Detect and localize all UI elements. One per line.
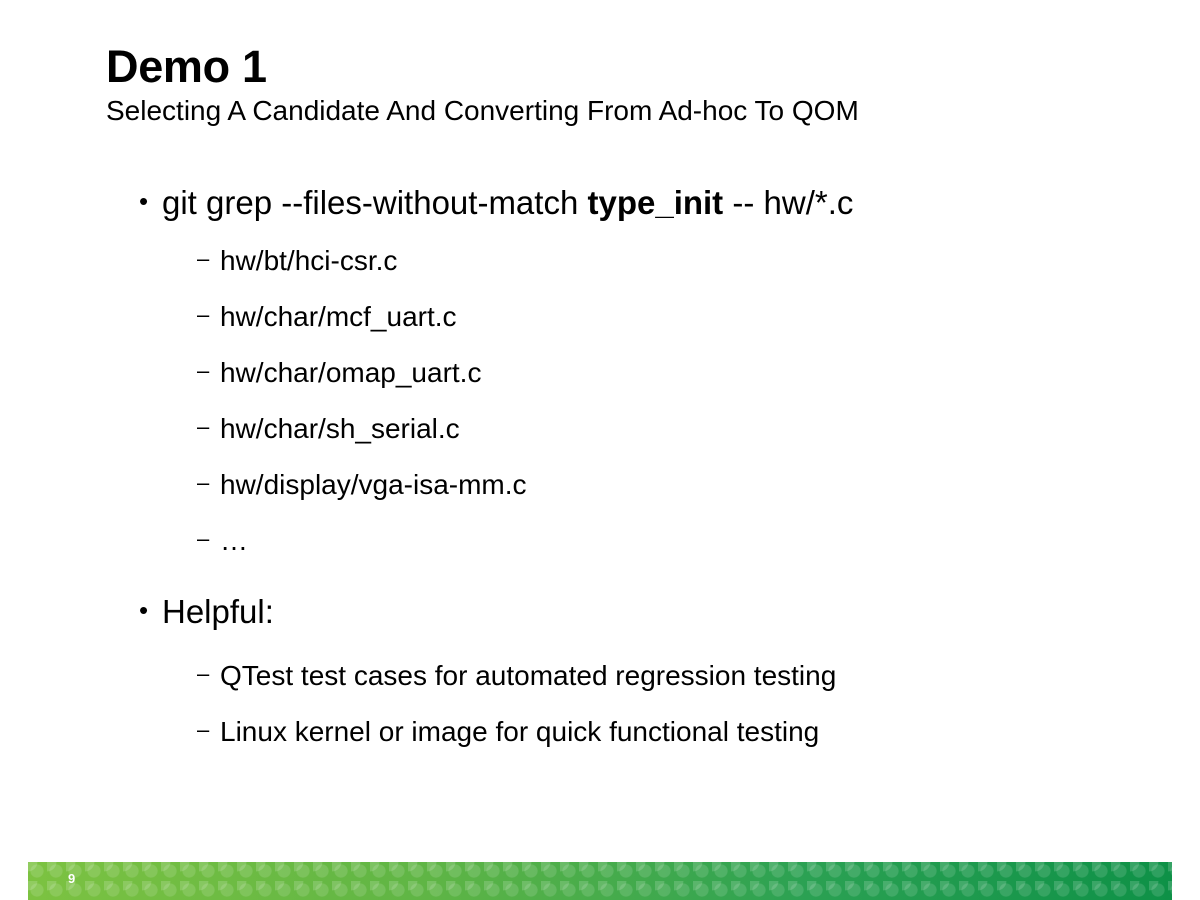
page-title: Demo 1 xyxy=(106,44,1106,90)
title-block: Demo 1 Selecting A Candidate And Convert… xyxy=(106,44,1106,126)
dash-marker-icon: – xyxy=(197,414,209,440)
footer-bar: 9 xyxy=(28,862,1172,900)
file-path-ellipsis-label: … xyxy=(220,525,248,556)
spacer xyxy=(106,387,1146,415)
command-prefix: git grep --files-without-match xyxy=(162,184,587,221)
helpful-item-label: QTest test cases for automated regressio… xyxy=(220,660,836,691)
list-item: – Linux kernel or image for quick functi… xyxy=(106,718,1146,746)
bullet-git-grep: • git grep --files-without-match type_in… xyxy=(106,186,1146,219)
file-path-label: hw/char/mcf_uart.c xyxy=(220,301,457,332)
list-item: – hw/char/mcf_uart.c xyxy=(106,303,1146,331)
list-item: – hw/display/vga-isa-mm.c xyxy=(106,471,1146,499)
spacer xyxy=(106,690,1146,718)
command-emphasis: type_init xyxy=(587,184,723,221)
spacer xyxy=(106,499,1146,527)
list-item: – hw/char/sh_serial.c xyxy=(106,415,1146,443)
content-outline: • git grep --files-without-match type_in… xyxy=(106,186,1146,746)
bullet-helpful: • Helpful: xyxy=(106,595,1146,628)
spacer xyxy=(106,225,1146,247)
bullet-helpful-label: Helpful: xyxy=(162,593,274,630)
helpful-item-label: Linux kernel or image for quick function… xyxy=(220,716,819,747)
dash-marker-icon: – xyxy=(197,358,209,384)
slide-canvas: Demo 1 Selecting A Candidate And Convert… xyxy=(0,0,1200,900)
bullet-git-grep-label: git grep --files-without-match type_init… xyxy=(162,184,853,221)
dash-marker-icon: – xyxy=(197,470,209,496)
dash-marker-icon: – xyxy=(197,717,209,743)
page-number: 9 xyxy=(68,872,75,885)
dash-marker-icon: – xyxy=(197,246,209,272)
dash-marker-icon: – xyxy=(197,661,209,687)
file-path-label: hw/char/omap_uart.c xyxy=(220,357,481,388)
spacer xyxy=(106,443,1146,471)
page-subtitle: Selecting A Candidate And Converting Fro… xyxy=(106,96,1106,126)
spacer xyxy=(106,275,1146,303)
file-path-label: hw/char/sh_serial.c xyxy=(220,413,460,444)
file-path-label: hw/display/vga-isa-mm.c xyxy=(220,469,527,500)
spacer xyxy=(106,555,1146,595)
list-item: – hw/bt/hci-csr.c xyxy=(106,247,1146,275)
list-item: – QTest test cases for automated regress… xyxy=(106,662,1146,690)
file-path-label: hw/bt/hci-csr.c xyxy=(220,245,397,276)
bullet-marker-icon: • xyxy=(139,595,148,626)
list-item: – hw/char/omap_uart.c xyxy=(106,359,1146,387)
dash-marker-icon: – xyxy=(197,526,209,552)
spacer xyxy=(106,634,1146,662)
bullet-marker-icon: • xyxy=(139,186,148,217)
list-item: – … xyxy=(106,527,1146,555)
command-suffix: -- hw/*.c xyxy=(723,184,853,221)
dash-marker-icon: – xyxy=(197,302,209,328)
spacer xyxy=(106,331,1146,359)
